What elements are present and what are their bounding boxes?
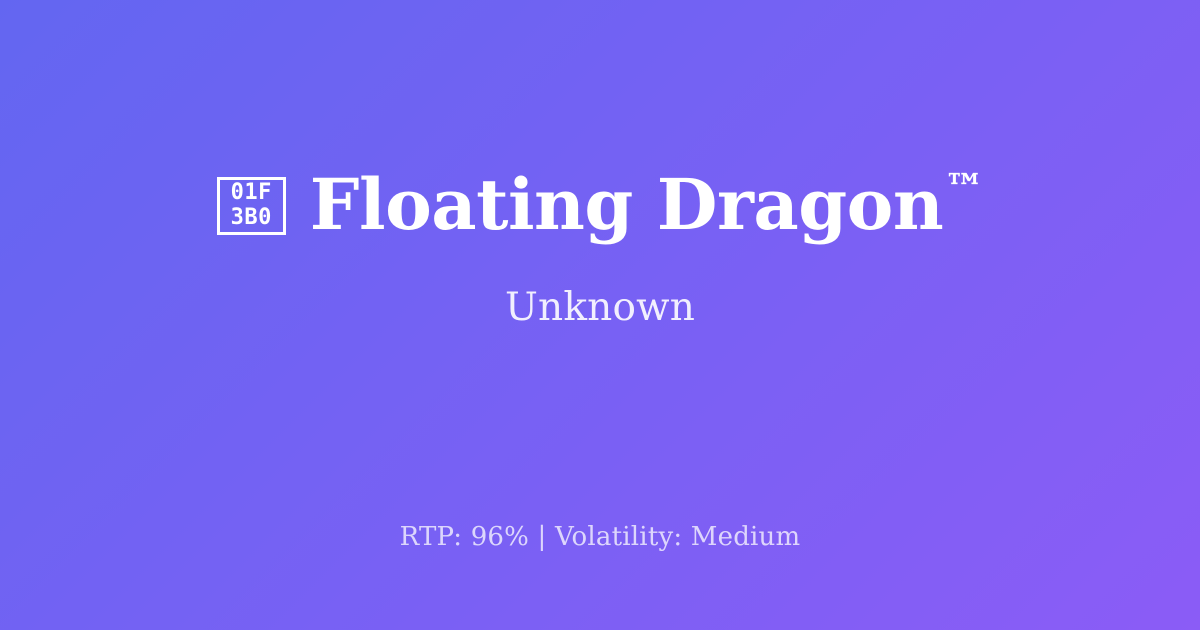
page-title: Floating Dragon bbox=[310, 170, 943, 240]
subtitle: Unknown bbox=[505, 288, 695, 327]
og-preview-card: 01F 3B0 Floating Dragon ™ Unknown RTP: 9… bbox=[0, 0, 1200, 630]
codepoint-bottom: 3B0 bbox=[231, 206, 272, 231]
slot-machine-emoji-icon: 01F 3B0 bbox=[217, 177, 286, 235]
codepoint-top: 01F bbox=[231, 181, 272, 206]
trademark-symbol: ™ bbox=[944, 169, 984, 209]
title-line: 01F 3B0 Floating Dragon ™ bbox=[217, 170, 983, 240]
hero-block: 01F 3B0 Floating Dragon ™ Unknown bbox=[0, 0, 1200, 460]
footer-meta: RTP: 96% | Volatility: Medium bbox=[0, 524, 1200, 550]
